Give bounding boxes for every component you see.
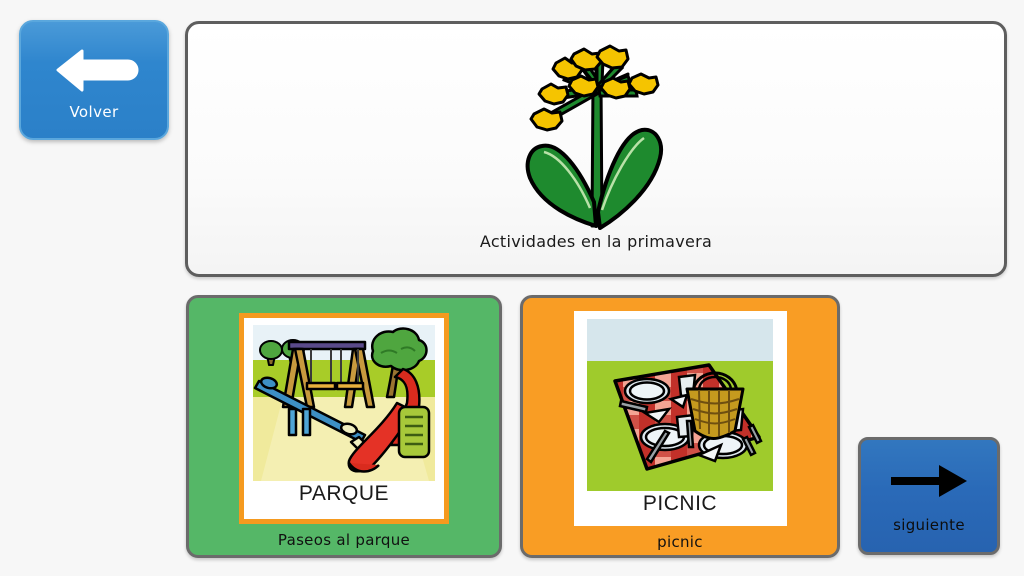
option-card-parque[interactable]: PARQUE Paseos al parque [186, 295, 502, 558]
next-button[interactable]: siguiente [858, 437, 1000, 555]
option-caption-picnic: picnic [657, 533, 703, 551]
spring-flower-pictogram [516, 30, 676, 236]
pictogram-word-picnic: PICNIC [643, 493, 717, 515]
prompt-caption: Actividades en la primavera [480, 232, 712, 251]
option-caption-parque: Paseos al parque [278, 531, 410, 549]
picnic-blanket-pictogram [587, 319, 773, 491]
pictogram-word-parque: PARQUE [299, 483, 389, 505]
back-button-label: Volver [69, 103, 118, 121]
arrow-left-icon [48, 43, 140, 99]
option-card-picnic[interactable]: PICNIC picnic [520, 295, 840, 558]
pictogram-frame-picnic: PICNIC [574, 311, 787, 526]
pictogram-frame-parque: PARQUE [239, 313, 449, 524]
arrow-right-icon [887, 460, 971, 502]
back-button[interactable]: Volver [19, 20, 169, 140]
next-button-label: siguiente [893, 516, 965, 534]
playground-park-pictogram [253, 325, 435, 481]
prompt-panel: Actividades en la primavera [185, 21, 1007, 277]
